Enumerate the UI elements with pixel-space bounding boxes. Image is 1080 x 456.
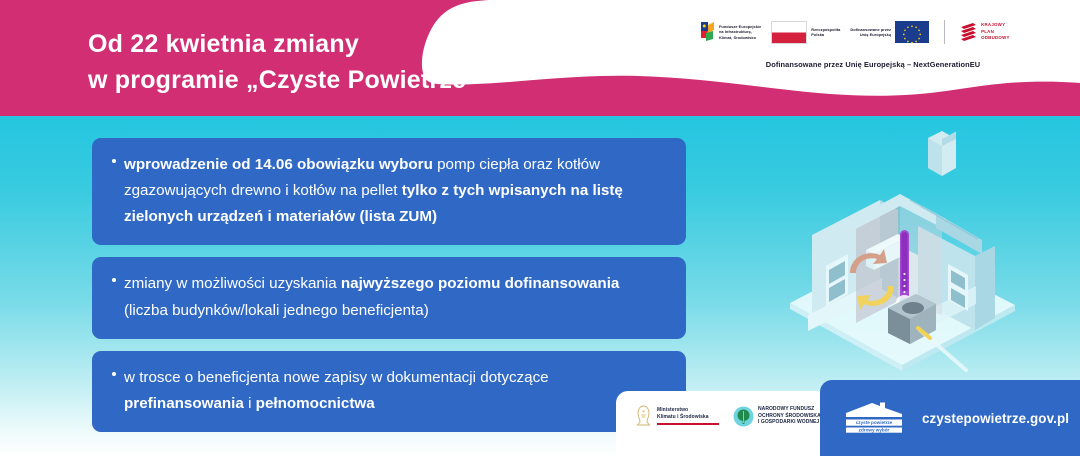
logo-caption: Dofinansowane przez Unię Europejską: [850, 27, 891, 37]
bullet-segment: pełnomocnictwa: [256, 395, 375, 412]
logo-rzeczpospolita-polska: Rzeczpospolita Polska: [771, 21, 840, 44]
bullet-item-2: zmiany w możliwości uzyskania najwyższeg…: [92, 257, 686, 338]
bullet-segment: prefinansowania: [124, 395, 244, 412]
bullet-item-1: wprowadzenie od 14.06 obowiązku wyboru p…: [92, 138, 686, 245]
website-url[interactable]: czystepowietrze.gov.pl: [922, 411, 1069, 426]
bullet-segment: zmiany w możliwości uzyskania: [124, 275, 341, 292]
footer-institution-logos: Ministerstwo Klimatu i Środowiska NARODO…: [634, 404, 821, 428]
bullet-text: zmiany w możliwości uzyskania najwyższeg…: [110, 271, 666, 323]
czyste-powietrze-logo-icon: czyste powietrze zdrowy wybór: [844, 401, 906, 435]
infographic-banner: Od 22 kwietnia zmiany w programie „Czyst…: [0, 0, 1080, 456]
bullet-segment: i: [244, 395, 256, 412]
bullet-text: w trosce o beneficjenta nowe zapisy w do…: [110, 365, 666, 417]
ministry-underline: [657, 423, 719, 425]
bullet-item-3: w trosce o beneficjenta nowe zapisy w do…: [92, 351, 686, 432]
bullet-segment: wprowadzenie od 14.06 obowiązku wyboru: [124, 156, 437, 173]
isometric-house-illustration: [770, 118, 1060, 383]
bullet-dot-icon: [112, 372, 116, 376]
svg-text:czyste powietrze: czyste powietrze: [856, 420, 893, 425]
logo-fundusze-europejskie: Fundusze Europejskie na Infrastrukturę, …: [700, 21, 761, 43]
logo-caption: Rzeczpospolita Polska: [811, 27, 840, 37]
bullet-list: wprowadzenie od 14.06 obowiązku wyboru p…: [92, 138, 686, 444]
polish-flag-icon: [771, 21, 807, 44]
logo-ministerstwo-klimatu: Ministerstwo Klimatu i Środowiska: [634, 404, 719, 428]
logo-narodowy-fundusz: NARODOWY FUNDUSZ OCHRONY ŚRODOWISKA I GO…: [733, 406, 821, 427]
bullet-segment: najwyższego poziomu dofinansowania: [341, 275, 619, 292]
page-title: Od 22 kwietnia zmiany w programie „Czyst…: [88, 27, 479, 98]
bullet-segment: w trosce o beneficjenta nowe zapisy w do…: [124, 369, 549, 386]
eu-flag-icon: [895, 21, 929, 43]
eu-funding-caption: Dofinansowane przez Unię Europejską – Ne…: [700, 60, 1046, 69]
polish-eagle-icon: [634, 404, 653, 428]
logo-caption: NARODOWY FUNDUSZ OCHRONY ŚRODOWISKA I GO…: [758, 406, 821, 426]
bullet-dot-icon: [112, 159, 116, 163]
logo-krajowy-plan-odbudowy: KRAJOWY PLAN ODBUDOWY: [960, 22, 1010, 42]
svg-text:zdrowy wybór: zdrowy wybór: [859, 428, 890, 433]
logo-caption: KRAJOWY PLAN ODBUDOWY: [981, 22, 1010, 41]
bullet-segment: (liczba budynków/lokali jednego beneficj…: [124, 302, 429, 319]
logo-caption: Fundusze Europejskie na Infrastrukturę, …: [719, 24, 761, 39]
footer-website-panel[interactable]: czyste powietrze zdrowy wybór czystepowi…: [820, 380, 1080, 456]
krajowy-plan-odbudowy-icon: [960, 22, 977, 42]
fundusze-europejskie-icon: [700, 21, 715, 43]
logo-unia-europejska: Dofinansowane przez Unię Europejską: [850, 21, 929, 43]
tree-in-circle-icon: [733, 406, 754, 427]
logo-caption: Ministerstwo Klimatu i Środowiska: [657, 407, 719, 421]
logo-divider: [944, 20, 945, 44]
bullet-text: wprowadzenie od 14.06 obowiązku wyboru p…: [110, 152, 666, 230]
eu-funding-logo-strip: Fundusze Europejskie na Infrastrukturę, …: [700, 18, 1046, 46]
